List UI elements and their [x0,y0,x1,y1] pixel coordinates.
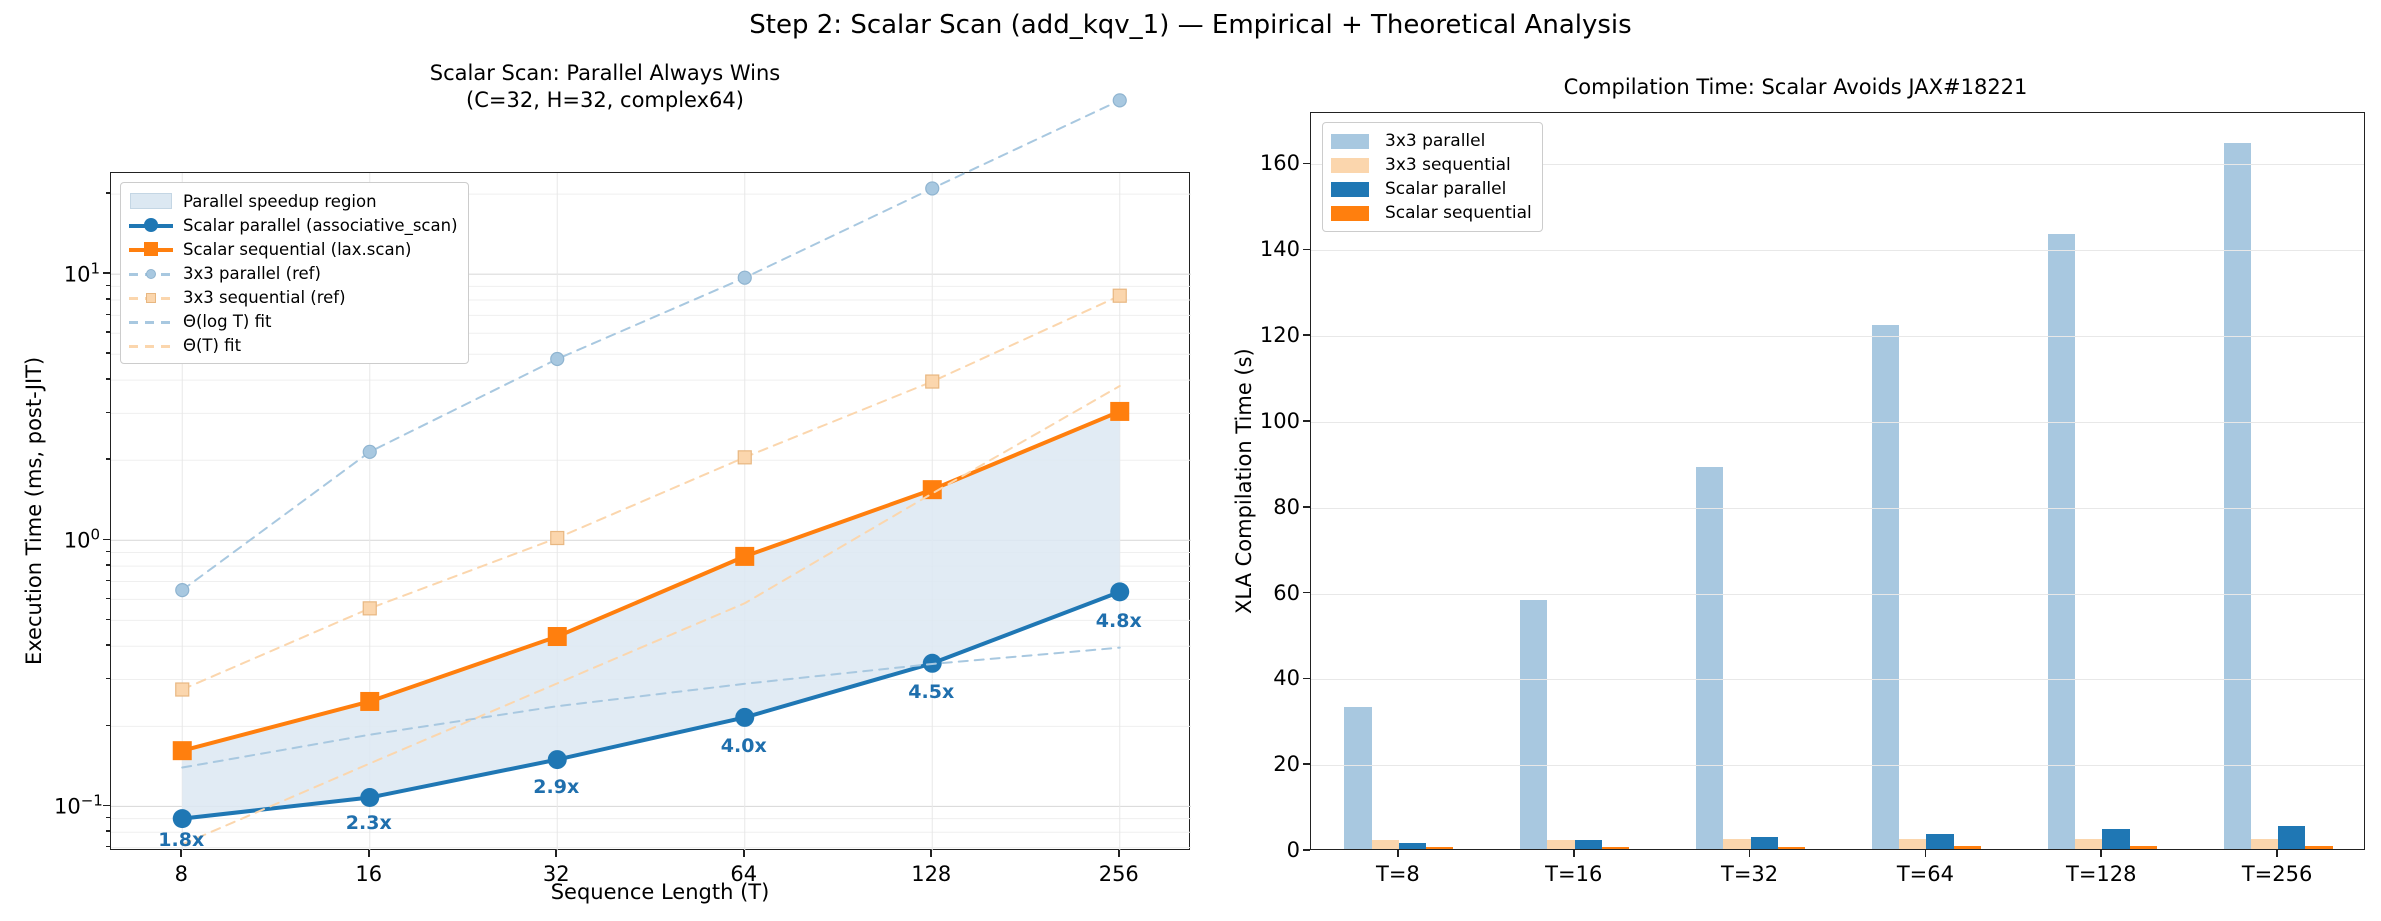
right-gridline [1311,336,2364,337]
right-x-tick-label: T=32 [1721,862,1778,886]
data-point [360,692,379,711]
bar [2048,234,2075,849]
legend-item-label: Scalar sequential [1385,203,1532,223]
right-y-tickmark [1303,163,1310,165]
right-x-tick-label: T=128 [2066,862,2137,886]
left-x-tickmark [930,850,932,857]
left-y-tickmark [103,539,110,541]
bar [2305,846,2332,849]
legend-item-label: Scalar sequential (lax.scan) [183,240,411,259]
right-x-tickmark [1925,850,1927,857]
bar [1954,846,1981,849]
bar [1899,839,1926,849]
right-y-tick-label: 80 [1248,495,1300,519]
right-gridline [1311,679,2364,680]
data-point [173,741,192,760]
right-x-tick-label: T=16 [1545,862,1602,886]
left-y-minor-tickmark [106,830,110,832]
legend-item[interactable]: 3x3 parallel (ref) [129,261,458,285]
left-x-axis-label: Sequence Length (T) [120,880,1200,904]
legend-key-icon [129,191,173,211]
legend-item[interactable]: Scalar sequential [1331,201,1532,225]
left-x-tick-label: 8 [175,862,188,886]
right-x-tickmark [1749,850,1751,857]
bar [1399,843,1426,849]
bar [1547,840,1574,849]
left-y-minor-tickmark [106,192,110,194]
right-x-tick-label: T=256 [2242,862,2313,886]
bar [1344,707,1371,849]
right-gridline [1311,422,2364,423]
data-point [1110,582,1129,601]
left-y-tickmark [103,272,110,274]
right-gridline [1311,765,2364,766]
left-chart-legend[interactable]: Parallel speedup regionScalar parallel (… [120,182,469,364]
left-y-minor-tickmark [106,458,110,460]
left-x-tickmark [180,850,182,857]
bar [1723,839,1750,849]
right-y-tick-label: 60 [1248,581,1300,605]
legend-item-label: 3x3 sequential [1385,155,1511,175]
left-y-minor-tickmark [106,644,110,646]
legend-item-label: 3x3 parallel (ref) [183,264,321,283]
bar [1926,834,1953,849]
data-point [926,182,939,195]
right-y-axis-label: XLA Compilation Time (s) [1232,348,1256,614]
legend-item-label: Θ(T) fit [183,336,241,355]
left-y-minor-tickmark [106,598,110,600]
left-y-minor-tickmark [106,725,110,727]
data-point [363,602,376,615]
left-y-minor-tickmark [106,817,110,819]
legend-item[interactable]: 3x3 sequential [1331,153,1532,177]
right-y-tickmark [1303,763,1310,765]
right-gridline [1311,594,2364,595]
data-point [360,788,379,807]
data-point [548,627,567,646]
right-y-tick-label: 160 [1248,151,1300,175]
right-x-tickmark [1397,850,1399,857]
data-point [548,750,567,769]
figure-suptitle: Step 2: Scalar Scan (add_kqv_1) — Empiri… [0,10,2381,40]
bar [2251,839,2278,849]
left-x-tick-label: 32 [543,862,570,886]
bar [1602,847,1629,849]
right-y-tickmark [1303,420,1310,422]
speedup-annotation: 4.0x [721,735,767,757]
left-y-tick-label: 101 [54,260,100,287]
data-point [173,809,192,828]
right-y-tickmark [1303,678,1310,680]
left-y-minor-tickmark [106,678,110,680]
right-x-tickmark [1573,850,1575,857]
data-point [738,451,751,464]
right-y-tickmark [1303,249,1310,251]
bar [1575,840,1602,849]
data-point [176,683,189,696]
legend-key-swatch [1331,203,1375,223]
left-y-minor-tickmark [106,331,110,333]
left-x-tickmark [368,850,370,857]
legend-key-swatch [1331,155,1375,175]
speedup-annotation: 4.8x [1096,610,1142,632]
left-y-minor-tickmark [106,285,110,287]
legend-item-label: 3x3 parallel [1385,131,1485,151]
right-gridline [1311,250,2364,251]
data-point [1110,402,1129,421]
bar [2075,839,2102,849]
speedup-region [182,411,1120,818]
right-y-tick-label: 140 [1248,237,1300,261]
data-point [176,584,189,597]
legend-item[interactable]: Scalar parallel [1331,177,1532,201]
right-gridline [1311,508,2364,509]
legend-item[interactable]: Θ(T) fit [129,333,458,357]
bar [2102,829,2129,849]
left-x-tickmark [743,850,745,857]
left-x-tickmark [1118,850,1120,857]
legend-item[interactable]: Scalar sequential (lax.scan) [129,237,458,261]
right-chart-legend[interactable]: 3x3 parallel3x3 sequentialScalar paralle… [1322,122,1543,232]
legend-key-icon [129,263,173,283]
figure-canvas: Step 2: Scalar Scan (add_kqv_1) — Empiri… [0,0,2381,921]
bar [1751,837,1778,849]
legend-key-swatch [1331,131,1375,151]
right-y-tickmark [1303,849,1310,851]
legend-item-label: Θ(log T) fit [183,312,271,331]
left-y-minor-tickmark [106,298,110,300]
left-y-minor-tickmark [106,846,110,848]
left-y-minor-tickmark [106,412,110,414]
left-x-tickmark [555,850,557,857]
speedup-annotation: 4.5x [908,681,954,703]
data-point [926,375,939,388]
left-chart-panel: Scalar Scan: Parallel Always Wins (C=32,… [0,60,1210,921]
bar [1872,325,1899,849]
left-x-tick-label: 256 [1099,862,1139,886]
legend-item[interactable]: 3x3 sequential (ref) [129,285,458,309]
left-x-tick-label: 16 [355,862,382,886]
legend-key-icon [129,287,173,307]
legend-key-icon [129,239,173,259]
legend-item[interactable]: Parallel speedup region [129,189,458,213]
right-y-tick-label: 0 [1248,838,1300,862]
right-x-tickmark [2276,850,2278,857]
data-point [1113,289,1126,302]
bar [1778,847,1805,849]
left-y-tick-label: 10−1 [54,792,100,819]
right-x-tickmark [2100,850,2102,857]
bar [1696,467,1723,849]
data-point [551,353,564,366]
legend-key-swatch [1331,179,1375,199]
right-y-tickmark [1303,506,1310,508]
data-point [735,547,754,566]
right-y-tick-label: 40 [1248,666,1300,690]
data-point [738,271,751,284]
left-y-tick-label: 100 [54,526,100,553]
bar [1520,600,1547,849]
legend-item-label: Parallel speedup region [183,192,377,211]
left-y-minor-tickmark [106,564,110,566]
left-chart-title: Scalar Scan: Parallel Always Wins (C=32,… [0,60,1210,114]
right-y-tick-label: 20 [1248,752,1300,776]
right-y-tick-label: 120 [1248,323,1300,347]
bar [2130,846,2157,849]
right-x-tick-label: T=8 [1376,862,1420,886]
left-y-minor-tickmark [106,619,110,621]
legend-item-label: 3x3 sequential (ref) [183,288,346,307]
legend-item[interactable]: Scalar parallel (associative_scan) [129,213,458,237]
right-chart-panel: Compilation Time: Scalar Avoids JAX#1822… [1210,60,2381,921]
left-x-tick-label: 128 [911,862,951,886]
legend-item[interactable]: Θ(log T) fit [129,309,458,333]
left-y-minor-tickmark [106,551,110,553]
bar [2278,826,2305,849]
right-chart-title: Compilation Time: Scalar Avoids JAX#1822… [1210,74,2381,101]
left-y-axis-label: Execution Time (ms, post-JIT) [22,357,46,665]
right-x-tick-label: T=64 [1897,862,1954,886]
right-y-tickmark [1303,592,1310,594]
legend-item[interactable]: 3x3 parallel [1331,129,1532,153]
data-point [551,532,564,545]
legend-key-icon [129,215,173,235]
left-y-minor-tickmark [106,352,110,354]
speedup-annotation: 2.9x [533,776,579,798]
data-point [363,445,376,458]
bar [2224,143,2251,849]
data-point [1113,94,1126,107]
left-y-minor-tickmark [106,580,110,582]
speedup-annotation: 1.8x [158,829,204,851]
bar [1372,840,1399,849]
left-x-tick-label: 64 [730,862,757,886]
right-y-tickmark [1303,334,1310,336]
data-point [735,708,754,727]
bar [1426,847,1453,849]
legend-item-label: Scalar parallel [1385,179,1506,199]
left-y-minor-tickmark [106,314,110,316]
right-y-tick-label: 100 [1248,409,1300,433]
legend-key-icon [129,311,173,331]
left-y-minor-tickmark [106,378,110,380]
left-y-tickmark [103,805,110,807]
legend-item-label: Scalar parallel (associative_scan) [183,216,458,235]
legend-key-icon [129,335,173,355]
speedup-annotation: 2.3x [346,812,392,834]
